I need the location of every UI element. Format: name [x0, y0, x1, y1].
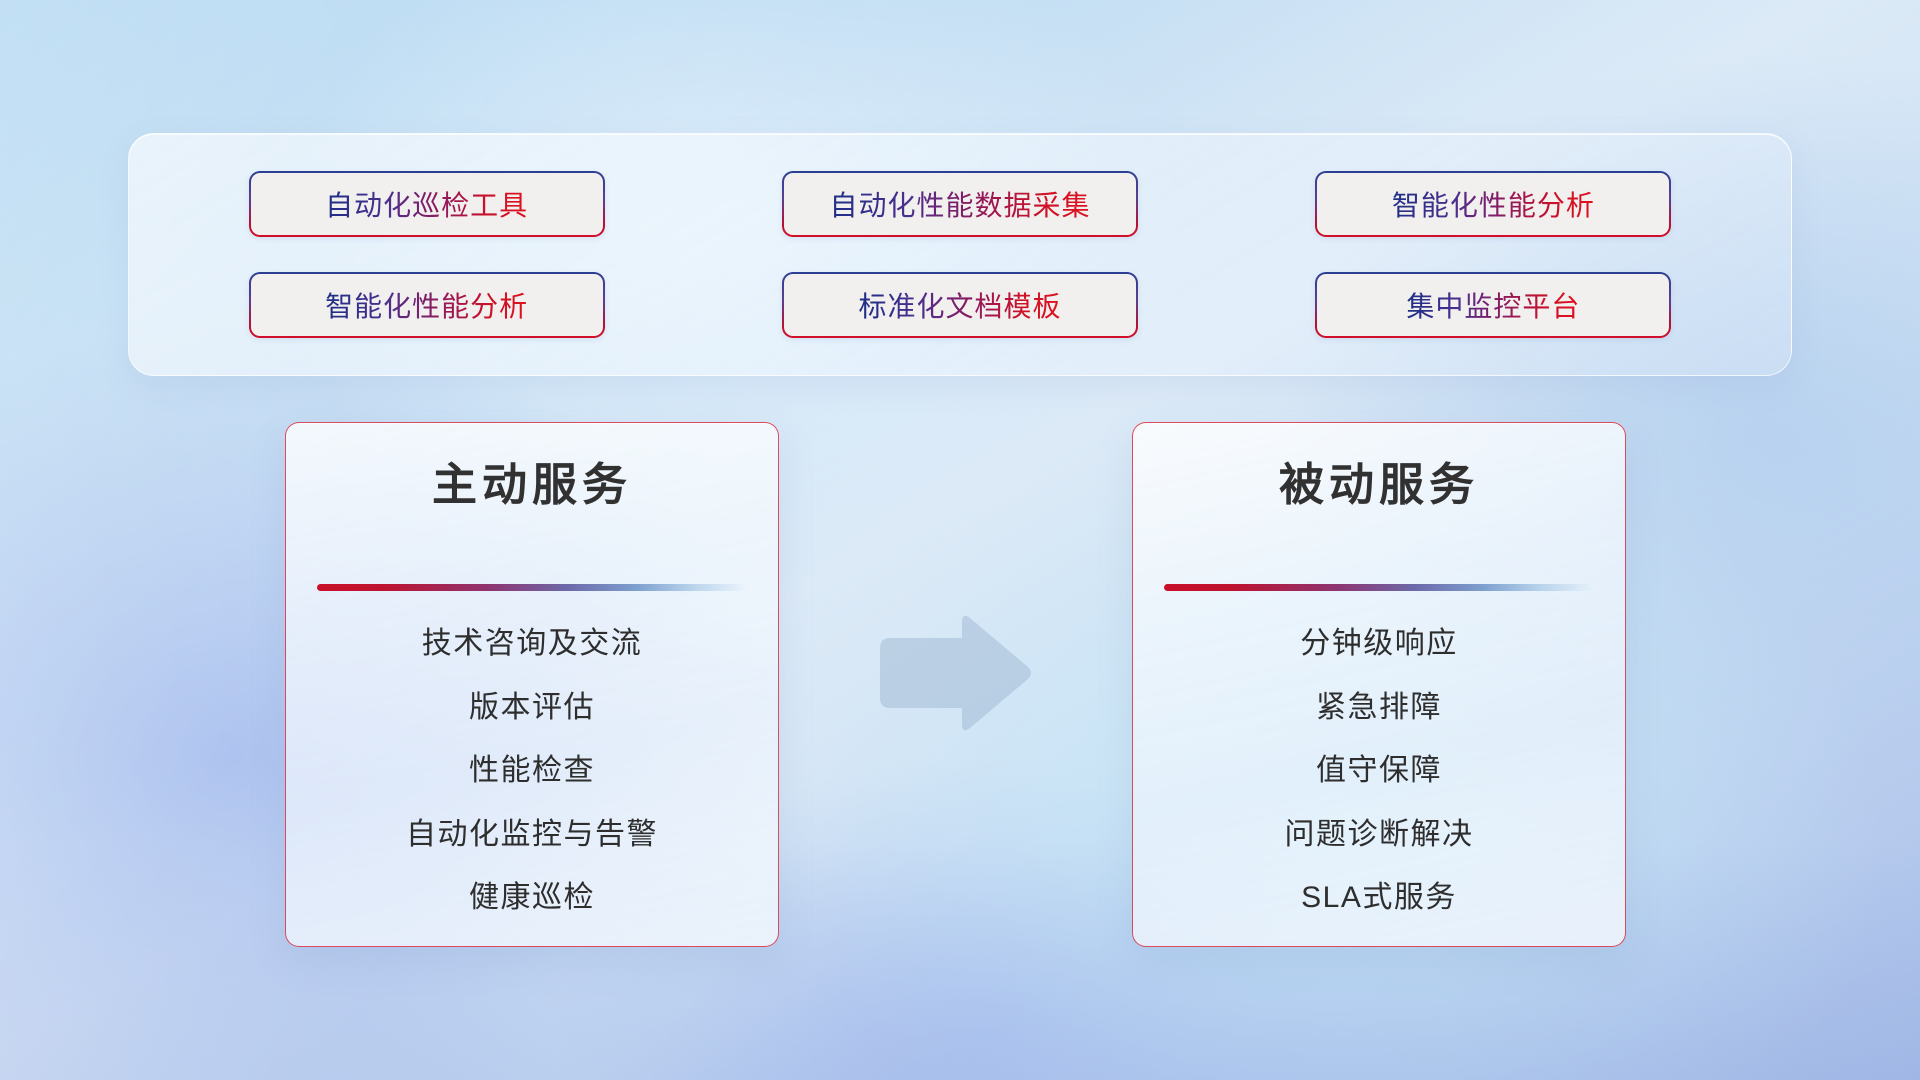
list-item: SLA式服务 — [1301, 879, 1457, 917]
card-title: 主动服务 — [432, 459, 632, 511]
list-item: 健康巡检 — [469, 879, 595, 917]
capability-pill-2[interactable]: 自动化性能数据采集 — [782, 171, 1138, 237]
capability-pill-3[interactable]: 智能化性能分析 — [1315, 171, 1671, 237]
card-title-divider — [1164, 584, 1594, 591]
list-item: 性能检查 — [469, 752, 595, 790]
list-item: 版本评估 — [469, 689, 595, 727]
capability-pill-1[interactable]: 自动化巡检工具 — [249, 171, 605, 237]
capability-pill-label: 智能化性能分析 — [325, 285, 528, 325]
capability-pill-label: 集中监控平台 — [1406, 285, 1580, 325]
service-card-active: 主动服务 技术咨询及交流 版本评估 性能检查 自动化监控与告警 健康巡检 — [285, 422, 779, 947]
arrow-right-icon — [872, 614, 1032, 732]
service-card-passive: 被动服务 分钟级响应 紧急排障 值守保障 问题诊断解决 SLA式服务 — [1132, 422, 1626, 947]
list-item: 分钟级响应 — [1300, 625, 1458, 663]
capability-pill-label: 自动化巡检工具 — [325, 184, 528, 224]
list-item: 问题诊断解决 — [1285, 816, 1474, 854]
list-item: 技术咨询及交流 — [422, 625, 643, 663]
capability-pill-5[interactable]: 标准化文档模板 — [782, 272, 1138, 338]
list-item: 自动化监控与告警 — [406, 816, 658, 854]
list-item: 值守保障 — [1316, 752, 1442, 790]
card-title: 被动服务 — [1279, 459, 1479, 511]
capability-panel: 自动化巡检工具 自动化性能数据采集 智能化性能分析 智能化性能分析 标准化文档模… — [128, 133, 1792, 376]
service-item-list: 分钟级响应 紧急排障 值守保障 问题诊断解决 SLA式服务 — [1159, 625, 1599, 917]
capability-pill-label: 标准化文档模板 — [858, 285, 1061, 325]
list-item: 紧急排障 — [1316, 689, 1442, 727]
card-title-divider — [317, 584, 747, 591]
capability-pill-4[interactable]: 智能化性能分析 — [249, 272, 605, 338]
capability-pill-6[interactable]: 集中监控平台 — [1315, 272, 1671, 338]
service-item-list: 技术咨询及交流 版本评估 性能检查 自动化监控与告警 健康巡检 — [312, 625, 752, 917]
capability-pill-label: 自动化性能数据采集 — [829, 184, 1090, 224]
capability-pill-label: 智能化性能分析 — [1392, 184, 1595, 224]
